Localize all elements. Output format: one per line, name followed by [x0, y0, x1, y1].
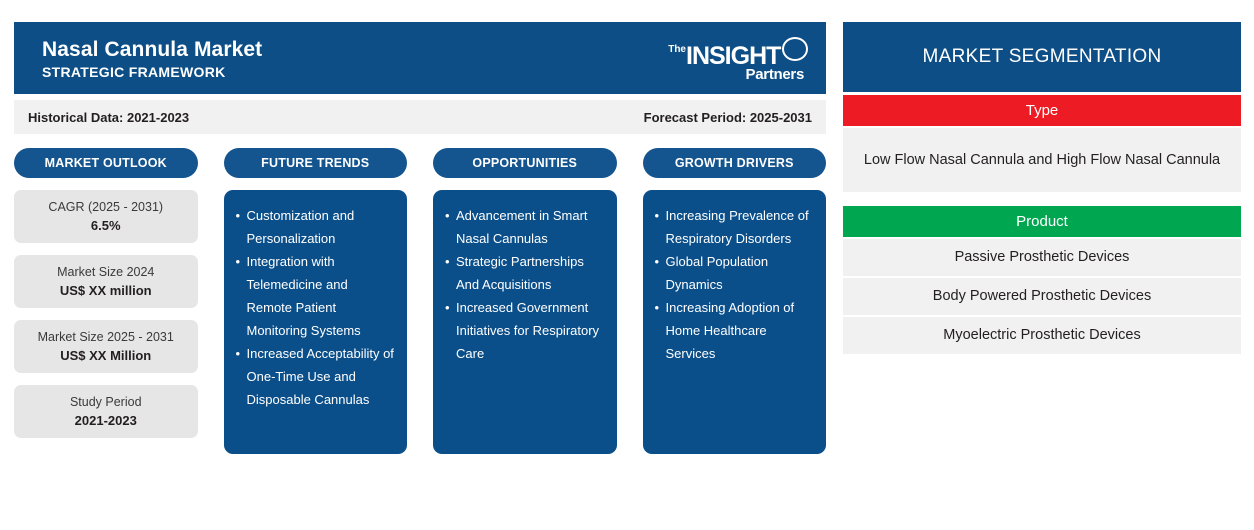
insight-partners-logo: The INSIGHT Partners [662, 37, 810, 91]
list-item: Increasing Prevalence of Respiratory Dis… [655, 204, 815, 250]
pill-opportunities[interactable]: OPPORTUNITIES [433, 148, 617, 178]
strategic-framework-panel: Nasal Cannula Market STRATEGIC FRAMEWORK… [14, 22, 826, 454]
forecast-period-label: Forecast Period: 2025-2031 [644, 110, 812, 125]
page-title: Nasal Cannula Market [42, 37, 262, 62]
page-subtitle: STRATEGIC FRAMEWORK [42, 63, 262, 81]
title-bar: Nasal Cannula Market STRATEGIC FRAMEWORK… [14, 22, 826, 94]
segmentation-spacer [843, 192, 1241, 203]
metric-value: 6.5% [91, 217, 121, 234]
list-item: Increasing Adoption of Home Healthcare S… [655, 296, 815, 365]
opportunities-list: Advancement in Smart Nasal Cannulas Stra… [445, 204, 605, 365]
segmentation-row: Passive Prosthetic Devices [843, 239, 1241, 276]
period-bar: Historical Data: 2021-2023 Forecast Peri… [14, 100, 826, 134]
metric-value: US$ XX Million [60, 347, 151, 364]
segmentation-row: Low Flow Nasal Cannula and High Flow Nas… [843, 128, 1241, 192]
column-future-trends: FUTURE TRENDS Customization and Personal… [224, 148, 408, 454]
list-item: Increased Acceptability of One-Time Use … [236, 342, 396, 411]
list-item: Customization and Personalization [236, 204, 396, 250]
pill-future-trends[interactable]: FUTURE TRENDS [224, 148, 408, 178]
segmentation-row: Myoelectric Prosthetic Devices [843, 317, 1241, 354]
logo-the-text: The [664, 45, 686, 55]
metric-label: Study Period [70, 394, 142, 410]
historical-data-label: Historical Data: 2021-2023 [28, 110, 189, 125]
card-opportunities: Advancement in Smart Nasal Cannulas Stra… [433, 190, 617, 454]
metric-label: Market Size 2024 [57, 264, 154, 280]
list-item: Advancement in Smart Nasal Cannulas [445, 204, 605, 250]
metric-study-period: Study Period 2021-2023 [14, 385, 198, 438]
pill-growth-drivers[interactable]: GROWTH DRIVERS [643, 148, 827, 178]
column-growth-drivers: GROWTH DRIVERS Increasing Prevalence of … [643, 148, 827, 454]
market-segmentation-panel: MARKET SEGMENTATION Type Low Flow Nasal … [843, 22, 1241, 354]
card-growth-drivers: Increasing Prevalence of Respiratory Dis… [643, 190, 827, 454]
list-item: Global Population Dynamics [655, 250, 815, 296]
logo-partners-text: Partners [746, 67, 804, 83]
segmentation-category-type: Type [843, 95, 1241, 126]
metric-market-size-2024: Market Size 2024 US$ XX million [14, 255, 198, 308]
column-opportunities: OPPORTUNITIES Advancement in Smart Nasal… [433, 148, 617, 454]
column-market-outlook: MARKET OUTLOOK CAGR (2025 - 2031) 6.5% M… [14, 148, 198, 454]
speech-bubble-icon [782, 37, 808, 61]
segmentation-category-product: Product [843, 206, 1241, 237]
framework-columns: MARKET OUTLOOK CAGR (2025 - 2031) 6.5% M… [14, 148, 826, 454]
title-text-block: Nasal Cannula Market STRATEGIC FRAMEWORK [42, 35, 262, 81]
metric-label: CAGR (2025 - 2031) [48, 199, 163, 215]
list-item: Strategic Partnerships And Acquisitions [445, 250, 605, 296]
growth-drivers-list: Increasing Prevalence of Respiratory Dis… [655, 204, 815, 365]
segmentation-title: MARKET SEGMENTATION [843, 22, 1241, 92]
card-future-trends: Customization and Personalization Integr… [224, 190, 408, 454]
metric-label: Market Size 2025 - 2031 [38, 329, 174, 345]
list-item: Integration with Telemedicine and Remote… [236, 250, 396, 342]
metric-cagr: CAGR (2025 - 2031) 6.5% [14, 190, 198, 243]
list-item: Increased Government Initiatives for Res… [445, 296, 605, 365]
pill-market-outlook[interactable]: MARKET OUTLOOK [14, 148, 198, 178]
metric-value: US$ XX million [60, 282, 152, 299]
metric-value: 2021-2023 [75, 412, 137, 429]
metric-market-size-forecast: Market Size 2025 - 2031 US$ XX Million [14, 320, 198, 373]
future-trends-list: Customization and Personalization Integr… [236, 204, 396, 411]
segmentation-row: Body Powered Prosthetic Devices [843, 278, 1241, 315]
